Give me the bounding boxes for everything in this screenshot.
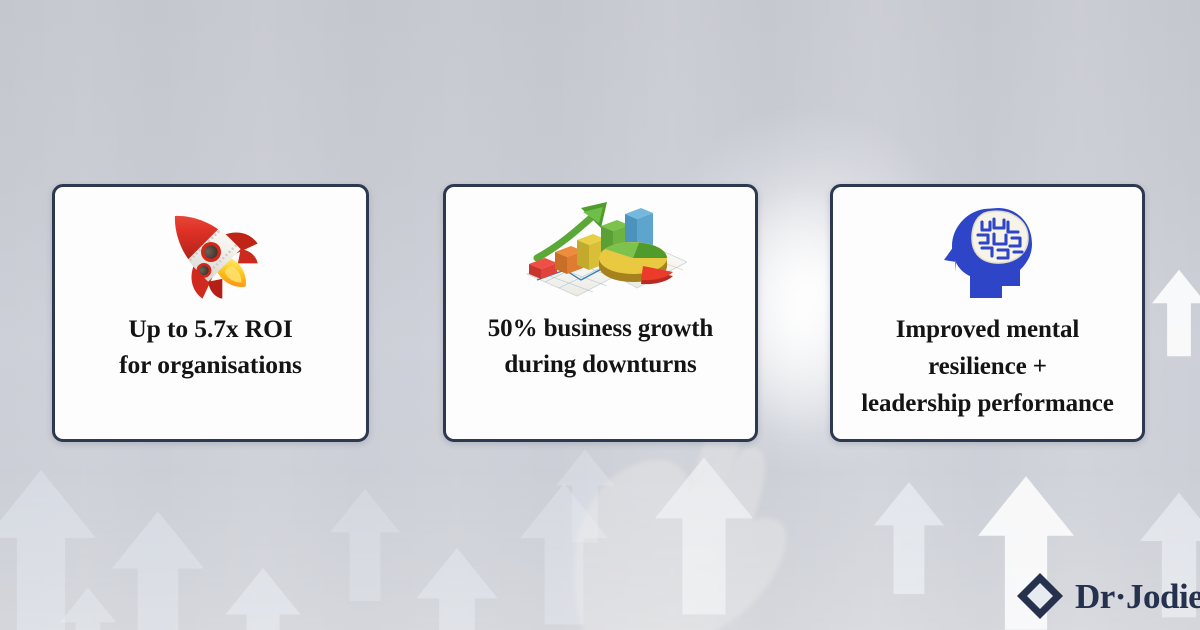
benefit-card-text: 50% business growth during downturns — [446, 311, 755, 383]
benefit-line: resilience + — [833, 348, 1142, 385]
brand-logo[interactable]: Dr·Jodie ™ — [1016, 572, 1200, 620]
head-with-brain-icon — [833, 193, 1142, 311]
diamond-logo-mark-icon — [1016, 572, 1064, 620]
brand-wordmark: Dr·Jodie ™ — [1075, 579, 1200, 614]
slide-canvas: Up to 5.7x ROI for organisations — [0, 0, 1200, 630]
benefit-line: Improved mental — [833, 311, 1142, 348]
benefit-line: Up to 5.7x ROI — [55, 311, 366, 347]
benefit-card-roi[interactable]: Up to 5.7x ROI for organisations — [52, 184, 369, 442]
benefit-cards-row: Up to 5.7x ROI for organisations — [0, 0, 1200, 630]
benefit-card-text: Improved mental resilience + leadership … — [833, 311, 1142, 422]
rocket-icon — [55, 193, 366, 311]
benefit-line: during downturns — [446, 347, 755, 383]
benefit-line: 50% business growth — [446, 311, 755, 347]
brand-name: Dr·Jodie — [1075, 579, 1200, 614]
benefit-card-resilience[interactable]: Improved mental resilience + leadership … — [830, 184, 1145, 442]
benefit-line: for organisations — [55, 347, 366, 383]
bar-and-pie-chart-icon — [446, 193, 755, 311]
benefit-card-text: Up to 5.7x ROI for organisations — [55, 311, 366, 383]
benefit-line: leadership performance — [819, 385, 1156, 422]
benefit-card-growth[interactable]: 50% business growth during downturns — [443, 184, 758, 442]
